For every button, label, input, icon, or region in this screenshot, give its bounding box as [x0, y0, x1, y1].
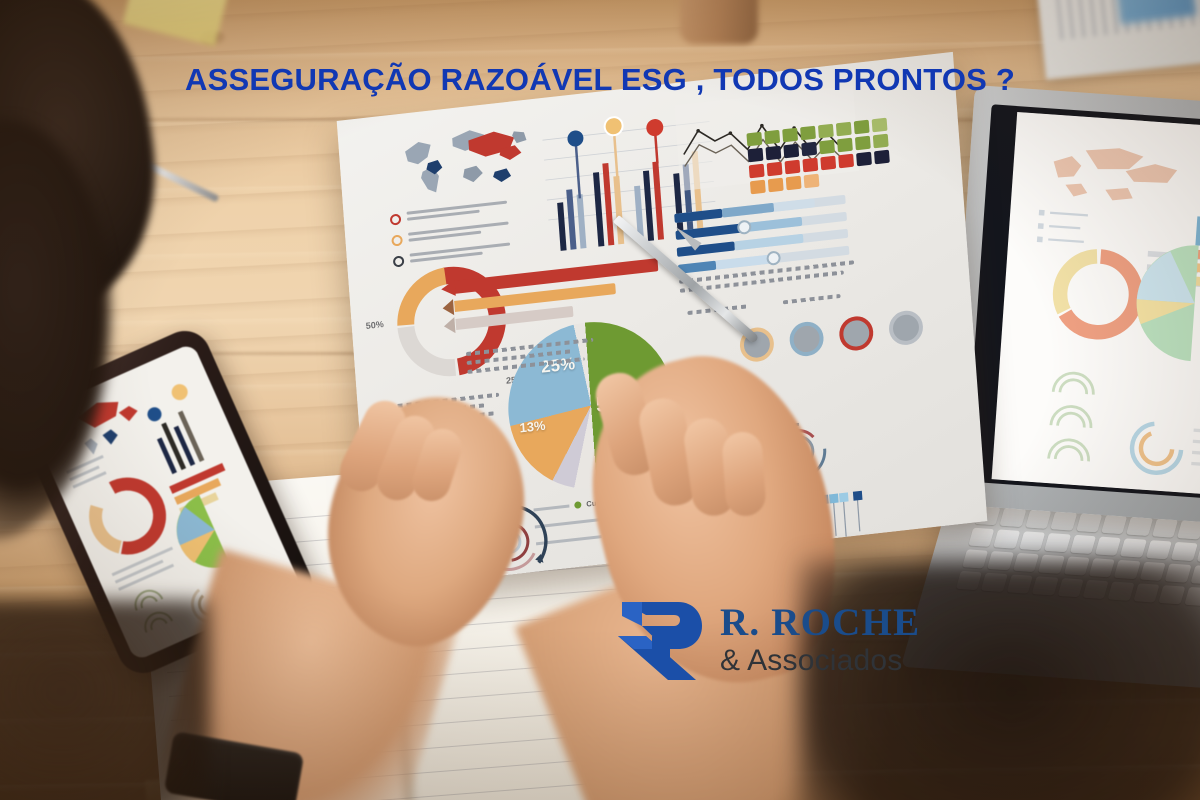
page-title: ASSEGURAÇÃO RAZOÁVEL ESG , TODOS PRONTOS…	[0, 62, 1200, 98]
logo-company-subtitle: & Associados	[720, 646, 920, 676]
r-monogram-svg	[612, 596, 704, 682]
screenshot-canvas: 50% 13% 25%	[0, 0, 1200, 800]
photo-vignette	[0, 0, 1200, 800]
company-logo: R. ROCHE & Associados	[612, 596, 920, 682]
r-monogram-icon	[612, 596, 704, 682]
logo-company-name: R. ROCHE	[720, 603, 920, 642]
logo-text-block: R. ROCHE & Associados	[720, 603, 920, 676]
